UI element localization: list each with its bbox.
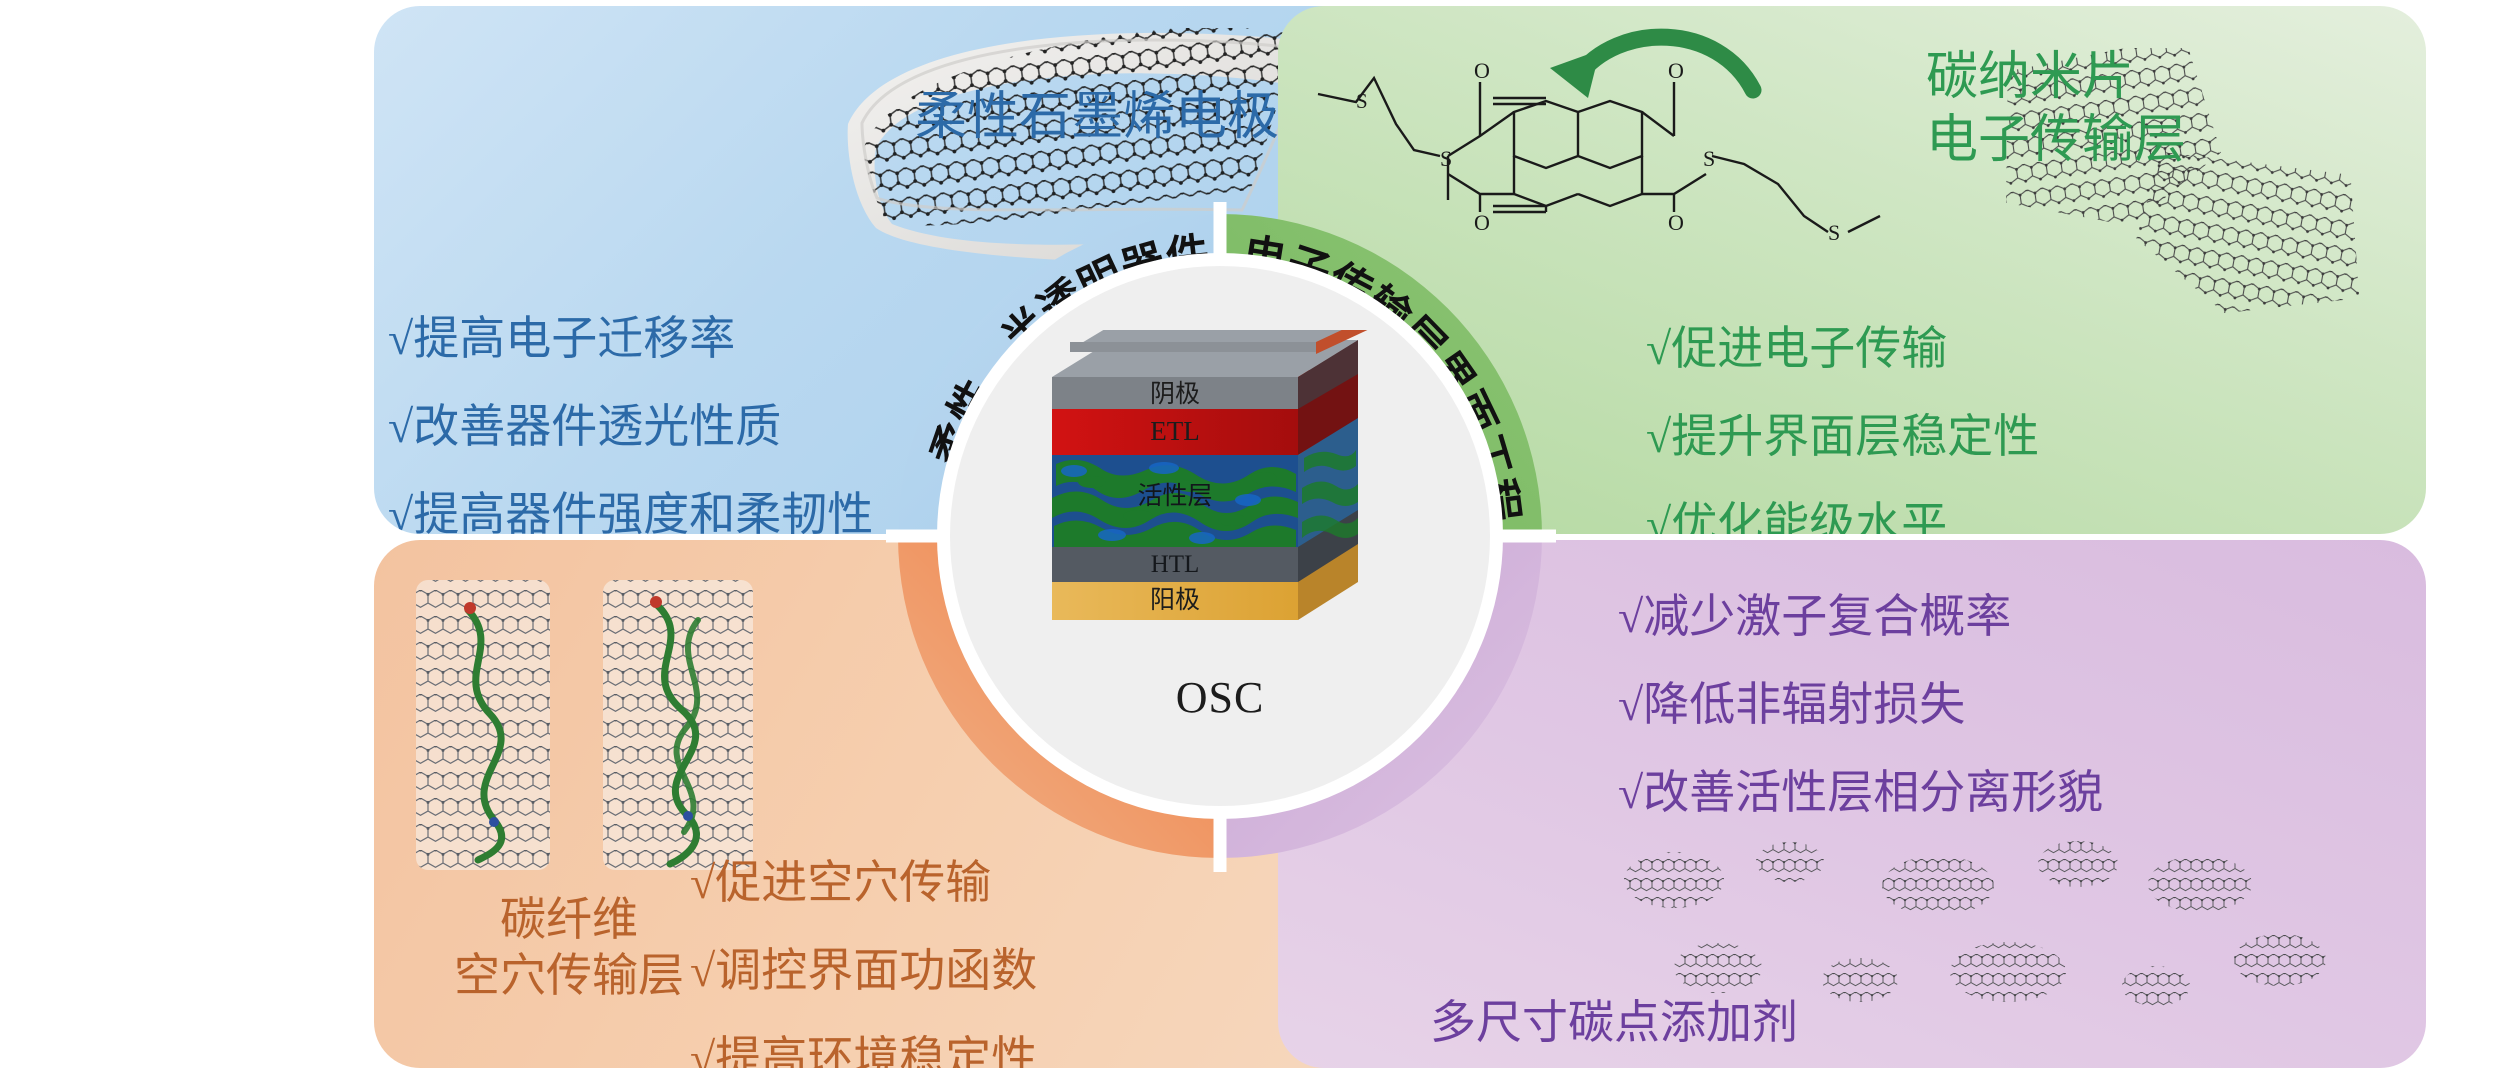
blue-bullet-list: √提高电子迁移率 √改善器件透光性质 √提高器件强度和柔韧性 bbox=[388, 304, 873, 534]
device-label-anode: 阳极 bbox=[1150, 586, 1200, 614]
device-label-htl: HTL bbox=[1151, 551, 1200, 578]
green-reaction-arrow-icon bbox=[1550, 37, 1753, 98]
device-label-active: 活性层 bbox=[1137, 482, 1212, 510]
figure-canvas: 柔性石墨烯电极 √提高电子迁移率 √改善器件透光性质 √提高器件强度和柔韧性 S bbox=[0, 0, 2519, 1072]
osc-center-label: OSC bbox=[950, 672, 1490, 723]
atom-label-s-right: S bbox=[1828, 220, 1840, 245]
orange-bullet-list: √促进空穴传输 √调控界面功函数 √提高环境稳定性 bbox=[690, 848, 1037, 1068]
purple-bullet-2: √降低非辐射损失 bbox=[1618, 670, 2103, 740]
osc-device-stack-diagram: 阳极 HTL bbox=[1052, 330, 1398, 630]
atom-label-o-bottom-right: O bbox=[1668, 210, 1684, 235]
atom-label-o-top-left: O bbox=[1474, 58, 1490, 83]
green-bullet-2: √提升界面层稳定性 bbox=[1646, 402, 2039, 472]
device-label-etl: ETL bbox=[1150, 416, 1199, 446]
atom-label-o-top-right: O bbox=[1668, 58, 1684, 83]
green-title: 碳纳米片 电子传输层 bbox=[1926, 46, 2186, 173]
atom-label-n-right: S bbox=[1703, 146, 1715, 171]
blue-bullet-1: √提高电子迁移率 bbox=[388, 304, 873, 374]
green-bullet-3: √优化能级水平 bbox=[1646, 490, 2039, 534]
purple-bullet-1: √减少激子复合概率 bbox=[1618, 582, 2103, 652]
purple-bullet-list: √减少激子复合概率 √降低非辐射损失 √改善活性层相分离形貌 bbox=[1618, 582, 2103, 846]
green-bullet-1: √促进电子传输 bbox=[1646, 314, 2039, 384]
purple-title: 多尺寸碳点添加剂 bbox=[1430, 995, 1798, 1051]
green-bullet-list: √促进电子传输 √提升界面层稳定性 √优化能级水平 bbox=[1646, 314, 2039, 534]
blue-title: 柔性石墨烯电极 bbox=[915, 86, 1279, 149]
carbon-nanotube-illustration bbox=[398, 564, 828, 894]
atom-label-s-left: S bbox=[1356, 89, 1368, 113]
device-label-cathode: 阴极 bbox=[1150, 380, 1200, 408]
orange-title: 碳纤维 空穴传输层 bbox=[424, 892, 714, 1004]
orange-bullet-2: √调控界面功函数 bbox=[690, 936, 1037, 1006]
purple-bullet-3: √改善活性层相分离形貌 bbox=[1618, 758, 2103, 828]
atom-label-n-left: S bbox=[1440, 146, 1452, 171]
blue-bullet-3: √提高器件强度和柔韧性 bbox=[388, 480, 873, 534]
orange-bullet-3: √提高环境稳定性 bbox=[690, 1024, 1037, 1068]
blue-bullet-2: √改善器件透光性质 bbox=[388, 392, 873, 462]
